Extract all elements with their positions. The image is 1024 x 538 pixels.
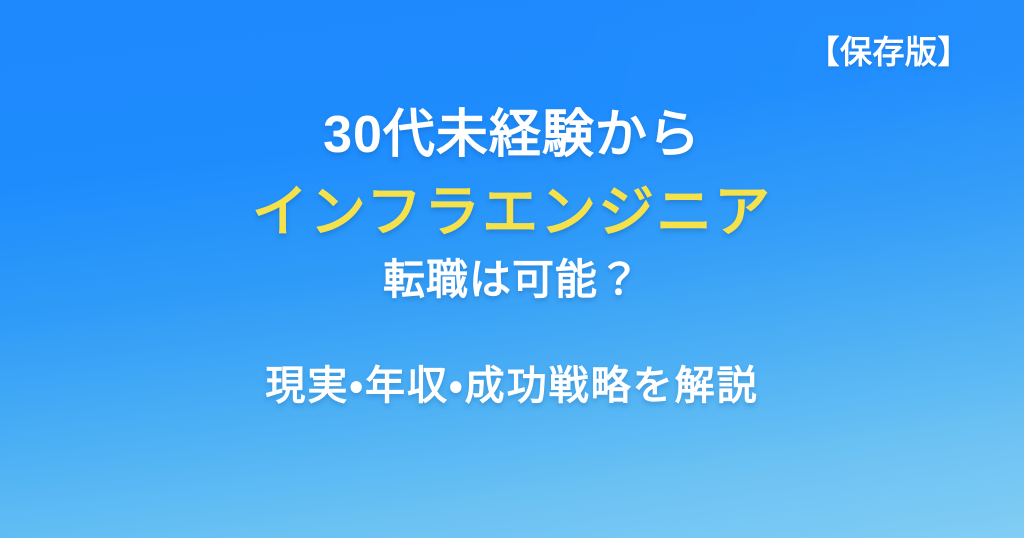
headline-block: 30代未経験から インフラエンジニア 転職は可能？ 現実・年収・成功戦略を解説 [0,102,1024,412]
headline-line-3: 転職は可能？ [0,252,1024,308]
headline-line-2-highlight: インフラエンジニア [0,178,1024,246]
headline-line-1: 30代未経験から [0,102,1024,168]
title-card: 【保存版】 30代未経験から インフラエンジニア 転職は可能？ 現実・年収・成功… [0,0,1024,538]
badge-container: 【保存版】 [807,33,970,71]
subtitle-text: 現実・年収・成功戦略を解説 [0,360,1024,412]
status-badge: 【保存版】 [807,33,970,71]
